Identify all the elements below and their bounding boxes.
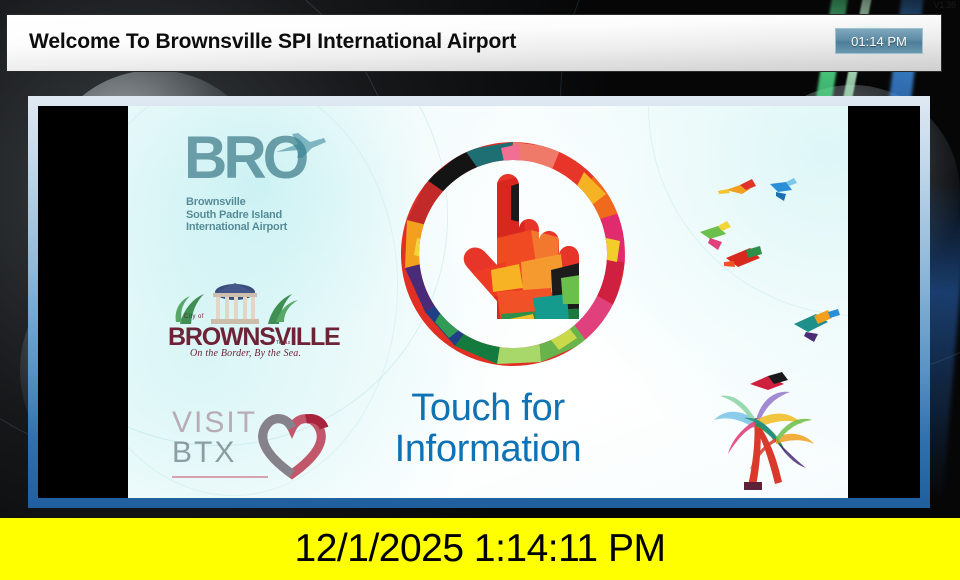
airport-logo-subtitle: Brownsville South Padre Island Internati… [186, 196, 287, 234]
city-logo: City of BROWNSVILLE Texas On the Border,… [168, 284, 303, 376]
airport-logo-line2: South Padre Island [186, 209, 287, 222]
airport-logo-line3: International Airport [186, 221, 287, 234]
hummingbird-icon [794, 309, 840, 342]
hummingbird-icon [718, 179, 756, 194]
airport-logo-line1: Brownsville [186, 196, 287, 209]
hummingbird-icon [770, 178, 797, 201]
hummingbird-icon [724, 246, 762, 267]
clock-badge: 01:14 PM [835, 28, 923, 54]
touch-prompt-line2: Information [238, 429, 738, 470]
city-logo-small-top: City of [184, 314, 204, 320]
content-frame-inner: BRO Brownsville South Padre Island Inter… [38, 106, 920, 498]
kiosk-screen: V1.36 Welcome To Brownsville SPI Interna… [0, 0, 960, 580]
city-logo-state: Texas [276, 340, 291, 346]
datetime-bar: 12/1/2025 1:14:11 PM [0, 518, 960, 580]
touch-panel[interactable]: BRO Brownsville South Padre Island Inter… [128, 106, 848, 498]
header-bar: Welcome To Brownsville SPI International… [6, 14, 942, 72]
pointing-hand-icon[interactable] [401, 142, 625, 366]
version-label: V1.36 [933, 0, 956, 10]
touch-prompt[interactable]: Touch for Information [238, 388, 738, 470]
content-frame: BRO Brownsville South Padre Island Inter… [28, 96, 930, 508]
hummingbirds-artwork [688, 146, 848, 406]
city-logo-wordmark: BROWNSVILLE [168, 324, 340, 350]
airport-logo: BRO Brownsville South Padre Island Inter… [168, 124, 328, 254]
hummingbird-icon [700, 221, 731, 250]
page-title: Welcome To Brownsville SPI International… [29, 30, 516, 54]
touch-prompt-line1: Touch for [238, 388, 738, 429]
airplane-icon [272, 130, 328, 162]
palm-trees-artwork [698, 382, 818, 492]
visit-btx-line2: BTX [172, 438, 236, 468]
datetime-text: 12/1/2025 1:14:11 PM [295, 527, 666, 571]
city-logo-tagline: On the Border, By the Sea. [190, 348, 301, 359]
